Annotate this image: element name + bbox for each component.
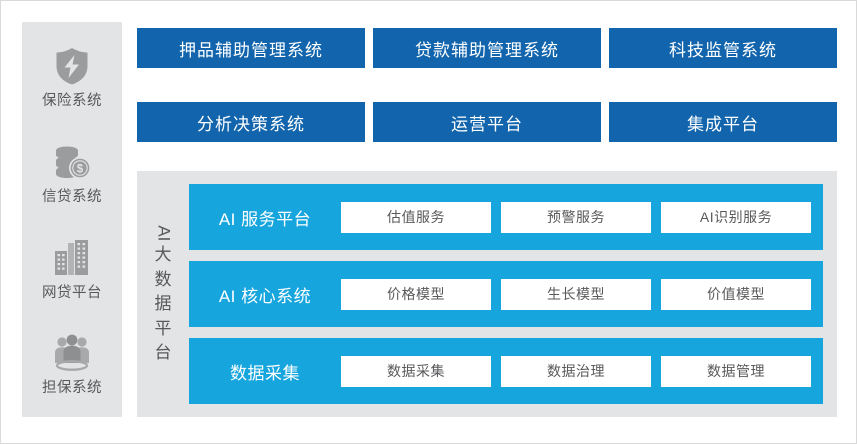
- platform-title-char: 平: [155, 318, 172, 340]
- sidebar-item-online-loan[interactable]: 网贷平台: [22, 235, 122, 301]
- system-bar-loan-management[interactable]: 贷款辅助管理系统: [373, 28, 601, 68]
- platform-title-char: 数: [155, 269, 172, 291]
- platform-title-char: 据: [155, 293, 172, 315]
- people-group-icon: [49, 330, 95, 376]
- chip-data-governance[interactable]: 数据治理: [501, 356, 651, 387]
- platform-row-chips: 价格模型 生长模型 价值模型: [341, 279, 811, 310]
- sidebar-item-credit[interactable]: $ 信贷系统: [22, 139, 122, 205]
- coin-stack-dollar-icon: $: [49, 139, 95, 185]
- system-bar-integration-platform[interactable]: 集成平台: [609, 102, 837, 142]
- ai-bigdata-platform-panel: AI 大 数 据 平 台 AI 服务平台 估值服务 预警服务 AI识别服务 AI…: [137, 171, 837, 417]
- top-systems-row-2: 分析决策系统 运营平台 集成平台: [137, 102, 837, 142]
- platform-row-title: AI 服务平台: [189, 205, 341, 230]
- office-buildings-icon: [49, 235, 95, 281]
- sidebar-item-guarantee[interactable]: 担保系统: [22, 330, 122, 396]
- sidebar-item-label: 担保系统: [42, 381, 102, 396]
- platform-rows: AI 服务平台 估值服务 预警服务 AI识别服务 AI 核心系统 价格模型 生长…: [189, 184, 823, 404]
- platform-row-ai-service: AI 服务平台 估值服务 预警服务 AI识别服务: [189, 184, 823, 250]
- architecture-diagram: 保险系统 $ 信贷: [0, 0, 857, 444]
- chip-data-management[interactable]: 数据管理: [661, 356, 811, 387]
- platform-row-title: 数据采集: [189, 359, 341, 384]
- chip-value-model[interactable]: 价值模型: [661, 279, 811, 310]
- sidebar-item-label: 信贷系统: [42, 190, 102, 205]
- chip-alert-service[interactable]: 预警服务: [501, 202, 651, 233]
- chip-growth-model[interactable]: 生长模型: [501, 279, 651, 310]
- platform-vertical-title: AI 大 数 据 平 台: [137, 184, 189, 404]
- chip-price-model[interactable]: 价格模型: [341, 279, 491, 310]
- platform-title-char: 大: [155, 244, 172, 266]
- sidebar-item-label: 网贷平台: [42, 286, 102, 301]
- platform-row-data-collection: 数据采集 数据采集 数据治理 数据管理: [189, 338, 823, 404]
- sidebar: 保险系统 $ 信贷: [22, 22, 122, 417]
- chip-ai-recognition-service[interactable]: AI识别服务: [661, 202, 811, 233]
- sidebar-item-insurance[interactable]: 保险系统: [22, 43, 122, 109]
- top-systems-row-1: 押品辅助管理系统 贷款辅助管理系统 科技监管系统: [137, 28, 837, 68]
- platform-title-char: 台: [155, 342, 172, 364]
- platform-title-latin: AI: [154, 225, 173, 241]
- platform-row-title: AI 核心系统: [189, 282, 341, 307]
- svg-text:$: $: [77, 163, 84, 175]
- chip-data-collection[interactable]: 数据采集: [341, 356, 491, 387]
- system-bar-tech-supervision[interactable]: 科技监管系统: [609, 28, 837, 68]
- shield-bolt-icon: [49, 43, 95, 89]
- system-bar-analysis-decision[interactable]: 分析决策系统: [137, 102, 365, 142]
- sidebar-item-label: 保险系统: [42, 94, 102, 109]
- system-bar-collateral-management[interactable]: 押品辅助管理系统: [137, 28, 365, 68]
- chip-valuation-service[interactable]: 估值服务: [341, 202, 491, 233]
- platform-row-chips: 数据采集 数据治理 数据管理: [341, 356, 811, 387]
- platform-row-chips: 估值服务 预警服务 AI识别服务: [341, 202, 811, 233]
- platform-row-ai-core: AI 核心系统 价格模型 生长模型 价值模型: [189, 261, 823, 327]
- system-bar-operations-platform[interactable]: 运营平台: [373, 102, 601, 142]
